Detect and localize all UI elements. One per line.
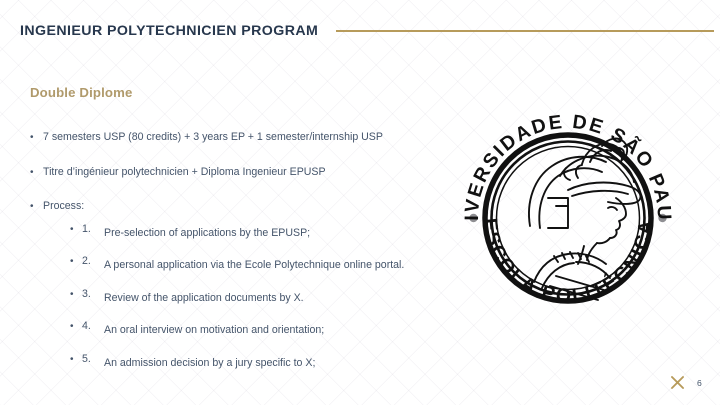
usp-escola-politecnica-seal-icon: UNIVERSIDADE DE SÃO PAULO ESCOLA POLITÉC…	[456, 106, 680, 330]
bullet-marker-icon: •	[70, 353, 82, 367]
list-item: • 5. An admission decision by a jury spe…	[70, 353, 460, 374]
list-item-text: Review of the application documents by X…	[104, 288, 424, 309]
list-item-text: An oral interview on motivation and orie…	[104, 320, 424, 341]
list-item: • 4. An oral interview on motivation and…	[70, 320, 460, 341]
list-item: • Process:	[30, 200, 460, 214]
bullet-marker-icon: •	[30, 131, 43, 145]
bullet-marker-icon: •	[70, 320, 82, 334]
list-item-number: 4.	[82, 320, 104, 333]
list-item-number: 3.	[82, 288, 104, 301]
list-item-text: Process:	[43, 200, 460, 213]
list-item: • Titre d’ingénieur polytechnicien + Dip…	[30, 166, 460, 180]
list-item: • 1. Pre-selection of applications by th…	[70, 223, 460, 244]
presentation-slide: INGENIEUR POLYTECHNICIEN PROGRAM Double …	[0, 0, 720, 405]
list-item-text: Titre d’ingénieur polytechnicien + Diplo…	[43, 166, 460, 179]
bullet-marker-icon: •	[70, 288, 82, 302]
slide-header: INGENIEUR POLYTECHNICIEN PROGRAM	[20, 24, 714, 38]
list-item-text: 7 semesters USP (80 credits) + 3 years E…	[43, 131, 460, 144]
list-item-text: An admission decision by a jury specific…	[104, 353, 424, 374]
title-divider-rule	[336, 30, 714, 31]
bullet-list: • 7 semesters USP (80 credits) + 3 years…	[30, 131, 460, 386]
list-item-number: 5.	[82, 353, 104, 366]
page-number: 6	[697, 378, 702, 388]
process-step-list: • 1. Pre-selection of applications by th…	[30, 223, 460, 374]
list-item-number: 2.	[82, 255, 104, 268]
ecole-polytechnique-x-icon	[669, 374, 686, 391]
page-title: INGENIEUR POLYTECHNICIEN PROGRAM	[20, 24, 318, 38]
list-item: • 7 semesters USP (80 credits) + 3 years…	[30, 131, 460, 145]
list-item-text: Pre-selection of applications by the EPU…	[104, 223, 424, 244]
section-heading: Double Diplome	[30, 85, 132, 100]
list-item: • 3. Review of the application documents…	[70, 288, 460, 309]
bullet-marker-icon: •	[70, 223, 82, 237]
bullet-marker-icon: •	[70, 255, 82, 269]
bullet-marker-icon: •	[30, 200, 43, 214]
list-item-text: A personal application via the Ecole Pol…	[104, 255, 424, 276]
list-item: • 2. A personal application via the Ecol…	[70, 255, 460, 276]
list-item-number: 1.	[82, 223, 104, 236]
bullet-marker-icon: •	[30, 166, 43, 180]
